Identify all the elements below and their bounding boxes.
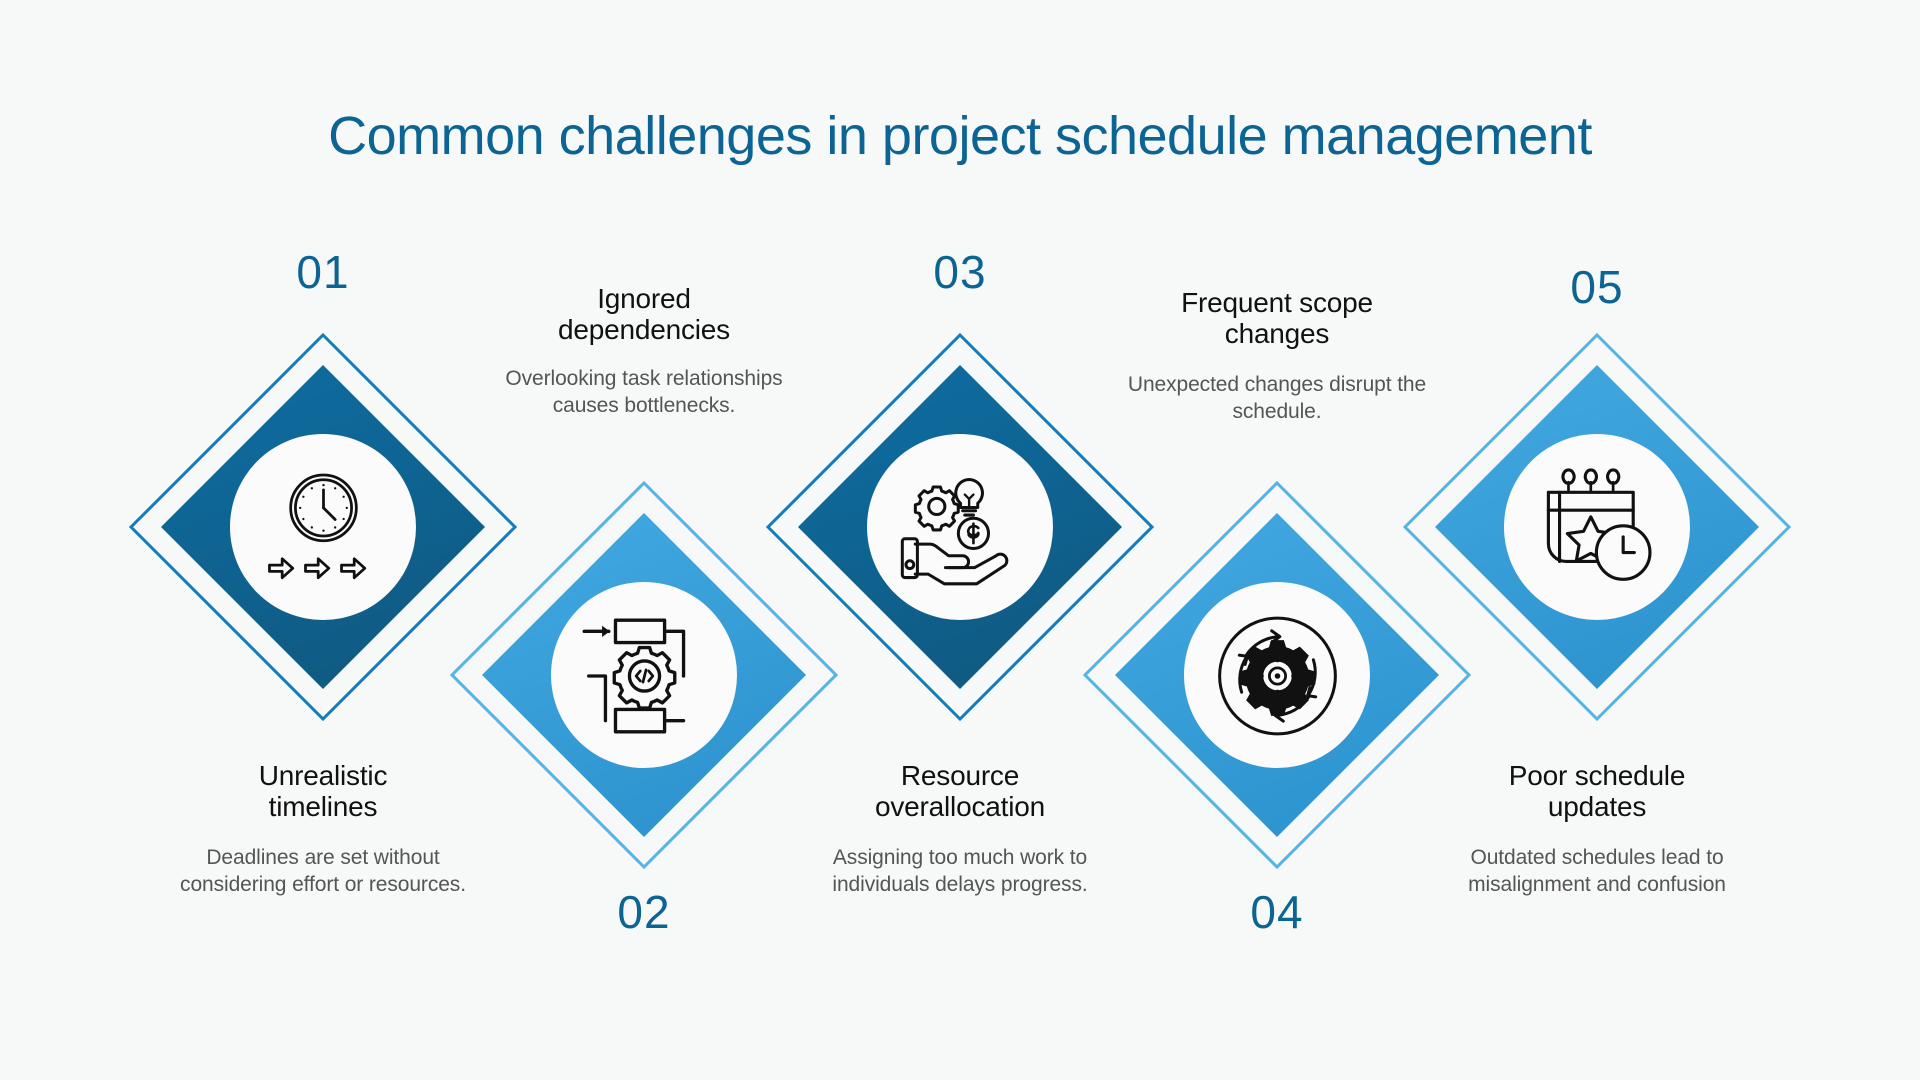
heading-line-2: dependencies — [558, 314, 730, 345]
heading-line-2: changes — [1225, 318, 1329, 349]
challenge-heading-3: Resource overallocation — [810, 760, 1110, 823]
text-block-5: Poor schedule updates Outdated schedules… — [1447, 760, 1747, 898]
text-block-1: Unrealistic timelines Deadlines are set … — [173, 760, 473, 898]
challenge-heading-2: Ignored dependencies — [494, 283, 794, 346]
challenge-heading-4: Frequent scope changes — [1127, 287, 1427, 350]
step-number-02: 02 — [494, 885, 794, 939]
heading-line-1: Poor schedule — [1509, 760, 1685, 791]
challenge-description-1: Deadlines are set without considering ef… — [173, 845, 473, 899]
diamond-card-5[interactable] — [1397, 327, 1797, 727]
challenge-heading-5: Poor schedule updates — [1447, 760, 1747, 823]
step-number-01: 01 — [173, 245, 473, 299]
heading-line-2: overallocation — [875, 791, 1045, 822]
challenge-description-3: Assigning too much work to individuals d… — [810, 845, 1110, 899]
gear-target-refresh-icon — [1215, 613, 1340, 738]
clock-with-arrows-icon — [261, 465, 386, 590]
workflow-gear-code-icon — [582, 613, 707, 738]
hand-gear-bulb-coin-icon — [898, 465, 1023, 590]
step-number-05: 05 — [1447, 260, 1747, 314]
text-block-4: Frequent scope changes Unexpected change… — [1127, 287, 1427, 425]
heading-line-1: Unrealistic — [259, 760, 388, 791]
challenge-heading-1: Unrealistic timelines — [173, 760, 473, 823]
text-block-2: Ignored dependencies Overlooking task re… — [494, 283, 794, 419]
heading-line-1: Ignored — [597, 283, 691, 314]
heading-line-2: updates — [1548, 791, 1646, 822]
heading-line-1: Frequent scope — [1181, 287, 1373, 318]
step-number-04: 04 — [1127, 885, 1427, 939]
challenge-description-4: Unexpected changes disrupt the schedule. — [1127, 372, 1427, 426]
page-title: Common challenges in project schedule ma… — [0, 105, 1920, 167]
challenge-description-2: Overlooking task relationships causes bo… — [494, 366, 794, 420]
heading-line-1: Resource — [901, 760, 1019, 791]
challenge-description-5: Outdated schedules lead to misalignment … — [1447, 845, 1747, 899]
heading-line-2: timelines — [269, 791, 378, 822]
calendar-star-clock-icon — [1535, 465, 1660, 590]
text-block-3: Resource overallocation Assigning too mu… — [810, 760, 1110, 898]
step-number-03: 03 — [810, 245, 1110, 299]
